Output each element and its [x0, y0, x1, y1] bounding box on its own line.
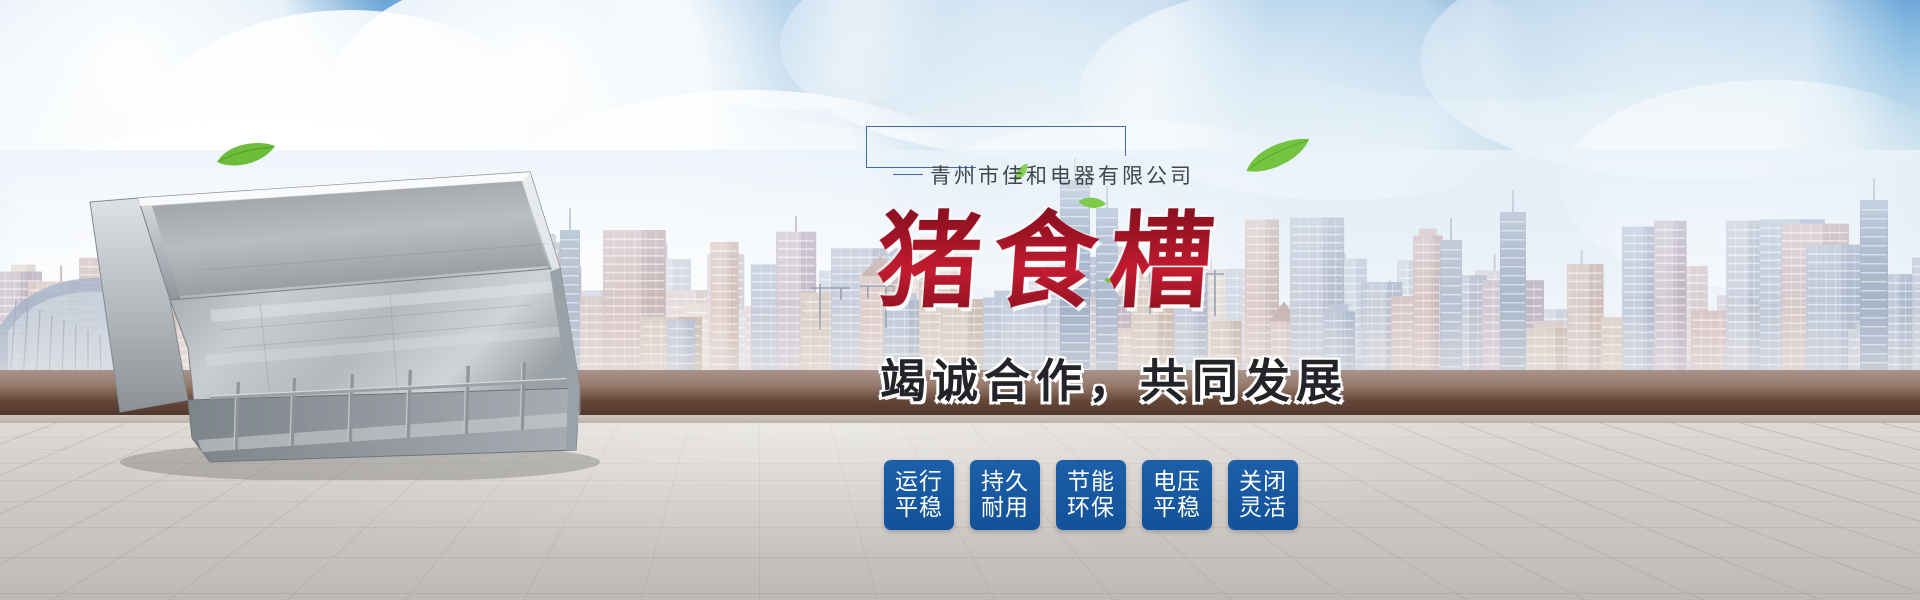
feature-badge-line2: 灵活: [1239, 495, 1287, 521]
company-name-dash: [893, 174, 923, 175]
feature-badge-line2: 环保: [1067, 495, 1115, 521]
feature-badge-line1: 关闭: [1239, 469, 1287, 495]
feature-badge-line2: 平稳: [1153, 495, 1201, 521]
feature-badge-line1: 电压: [1153, 469, 1201, 495]
feature-badge[interactable]: 关闭灵活: [1228, 460, 1298, 530]
feature-badge-list: 运行平稳持久耐用节能环保电压平稳关闭灵活: [884, 460, 1298, 530]
feature-badge[interactable]: 节能环保: [1056, 460, 1126, 530]
feature-badge-line1: 节能: [1067, 469, 1115, 495]
feature-badge-line2: 平稳: [895, 495, 943, 521]
feature-badge[interactable]: 运行平稳: [884, 460, 954, 530]
feature-badge-line2: 耐用: [981, 495, 1029, 521]
hero-subtitle: 竭诚合作，共同发展: [880, 345, 1348, 411]
promo-banner: 青州市佳和电器有限公司 猪食槽 竭诚合作，共同发展 运行平稳持久耐用节能环保电压…: [0, 0, 1920, 600]
feature-badge-line1: 运行: [895, 469, 943, 495]
feature-badge-line1: 持久: [981, 469, 1029, 495]
page-title: 猪食槽: [873, 176, 1232, 327]
feature-badge[interactable]: 持久耐用: [970, 460, 1040, 530]
feature-badge[interactable]: 电压平稳: [1142, 460, 1212, 530]
